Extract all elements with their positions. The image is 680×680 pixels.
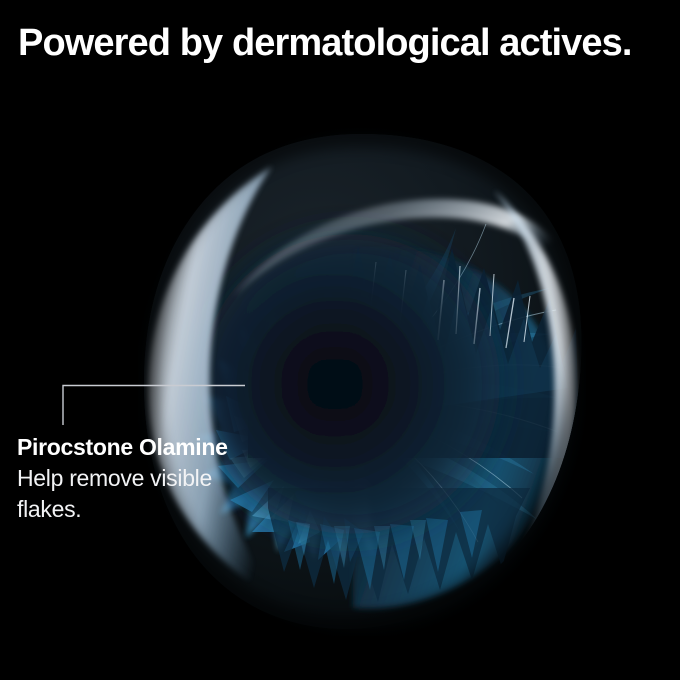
ingredient-benefit: Help remove visible flakes. (17, 463, 247, 525)
page-title: Powered by dermatological actives. (18, 19, 638, 67)
callout-caption: Pirocstone Olamine Help remove visible f… (17, 432, 247, 525)
orb-illustration (138, 128, 586, 636)
ingredient-name: Pirocstone Olamine (17, 432, 247, 463)
promo-card: Powered by dermatological actives. (0, 0, 680, 680)
ingredient-orb (138, 128, 586, 636)
